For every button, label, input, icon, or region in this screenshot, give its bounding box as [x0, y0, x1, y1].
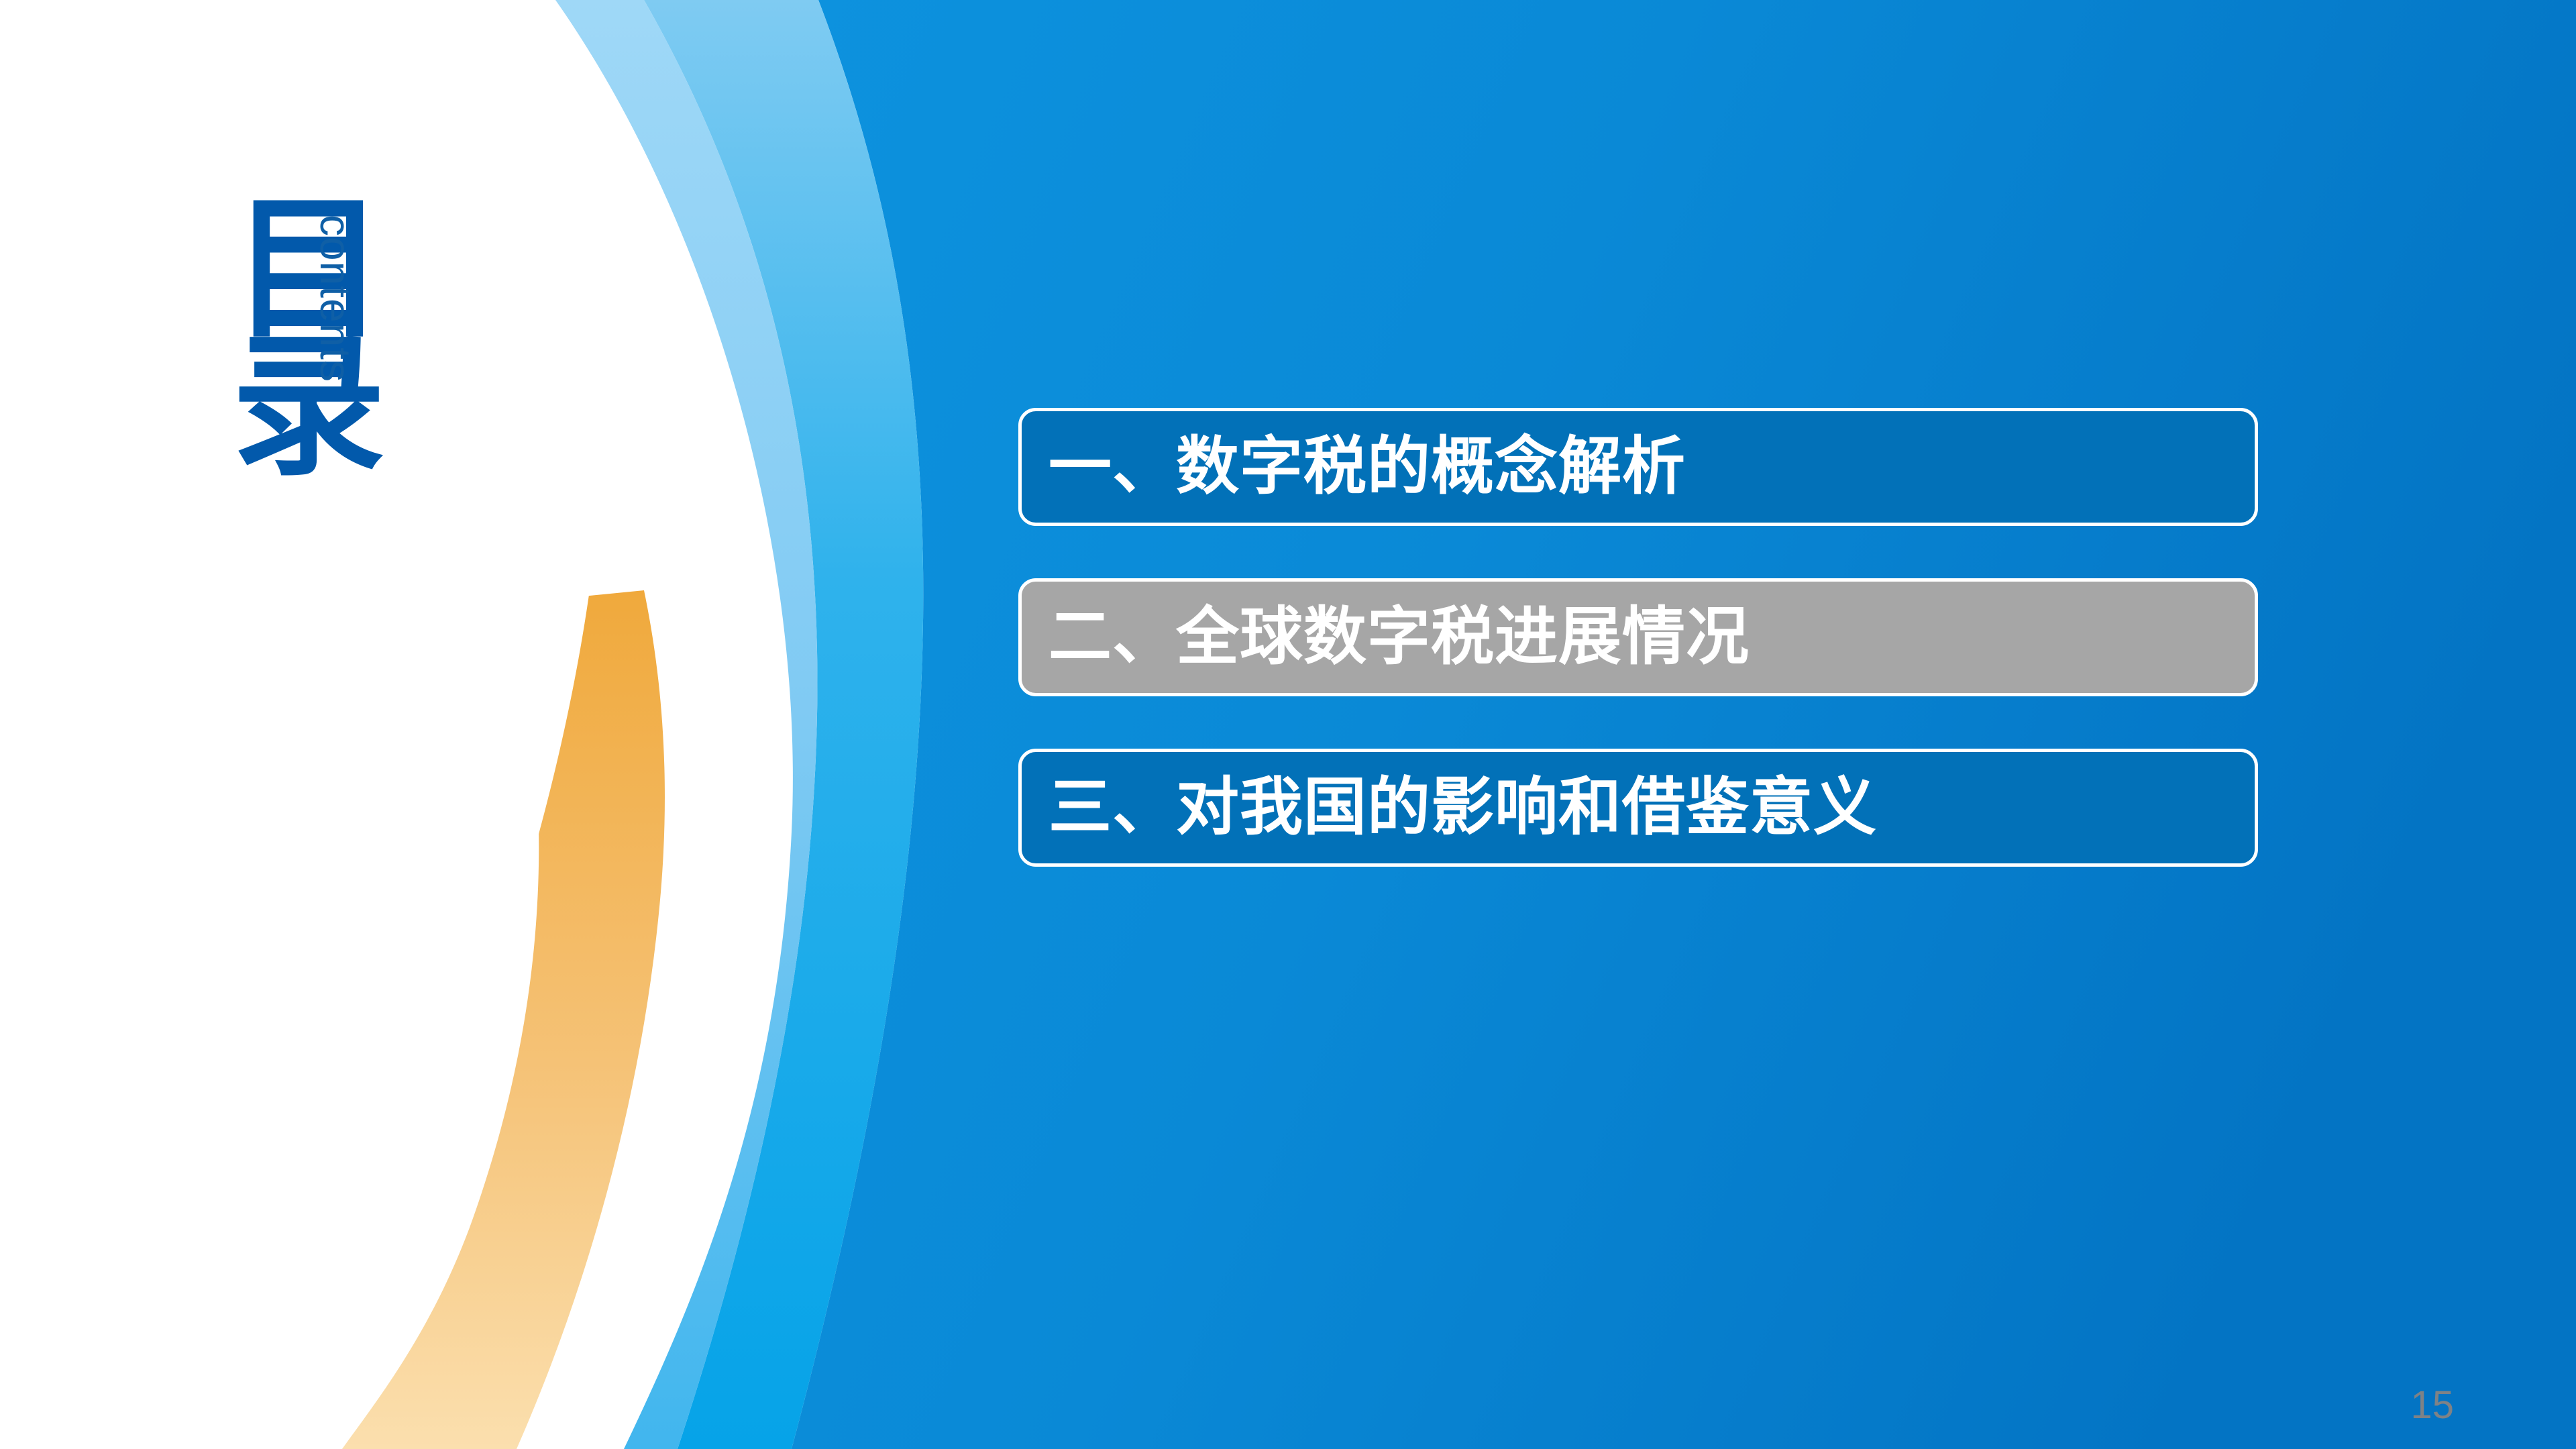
- slide-canvas: 目 录 contents 一、数字税的概念解析 二、全球数字税进展情况 三、对我…: [0, 0, 2576, 1449]
- toc-item-1[interactable]: 一、数字税的概念解析: [1018, 408, 2258, 526]
- toc-item-3[interactable]: 三、对我国的影响和借鉴意义: [1018, 749, 2258, 867]
- page-title: 目 录: [221, 201, 396, 476]
- toc-item-2-label: 二、全球数字税进展情况: [1049, 604, 1750, 671]
- page-subtitle-contents: contents: [314, 215, 357, 382]
- page-title-char-2: 录: [221, 339, 396, 476]
- toc-item-1-label: 一、数字税的概念解析: [1049, 433, 1686, 500]
- page-number: 15: [2410, 1386, 2454, 1425]
- title-group: 目 录 contents: [201, 201, 510, 577]
- toc-item-3-label: 三、对我国的影响和借鉴意义: [1049, 774, 1877, 841]
- toc-item-2[interactable]: 二、全球数字税进展情况: [1018, 578, 2258, 696]
- table-of-contents: 一、数字税的概念解析 二、全球数字税进展情况 三、对我国的影响和借鉴意义: [1018, 408, 2258, 867]
